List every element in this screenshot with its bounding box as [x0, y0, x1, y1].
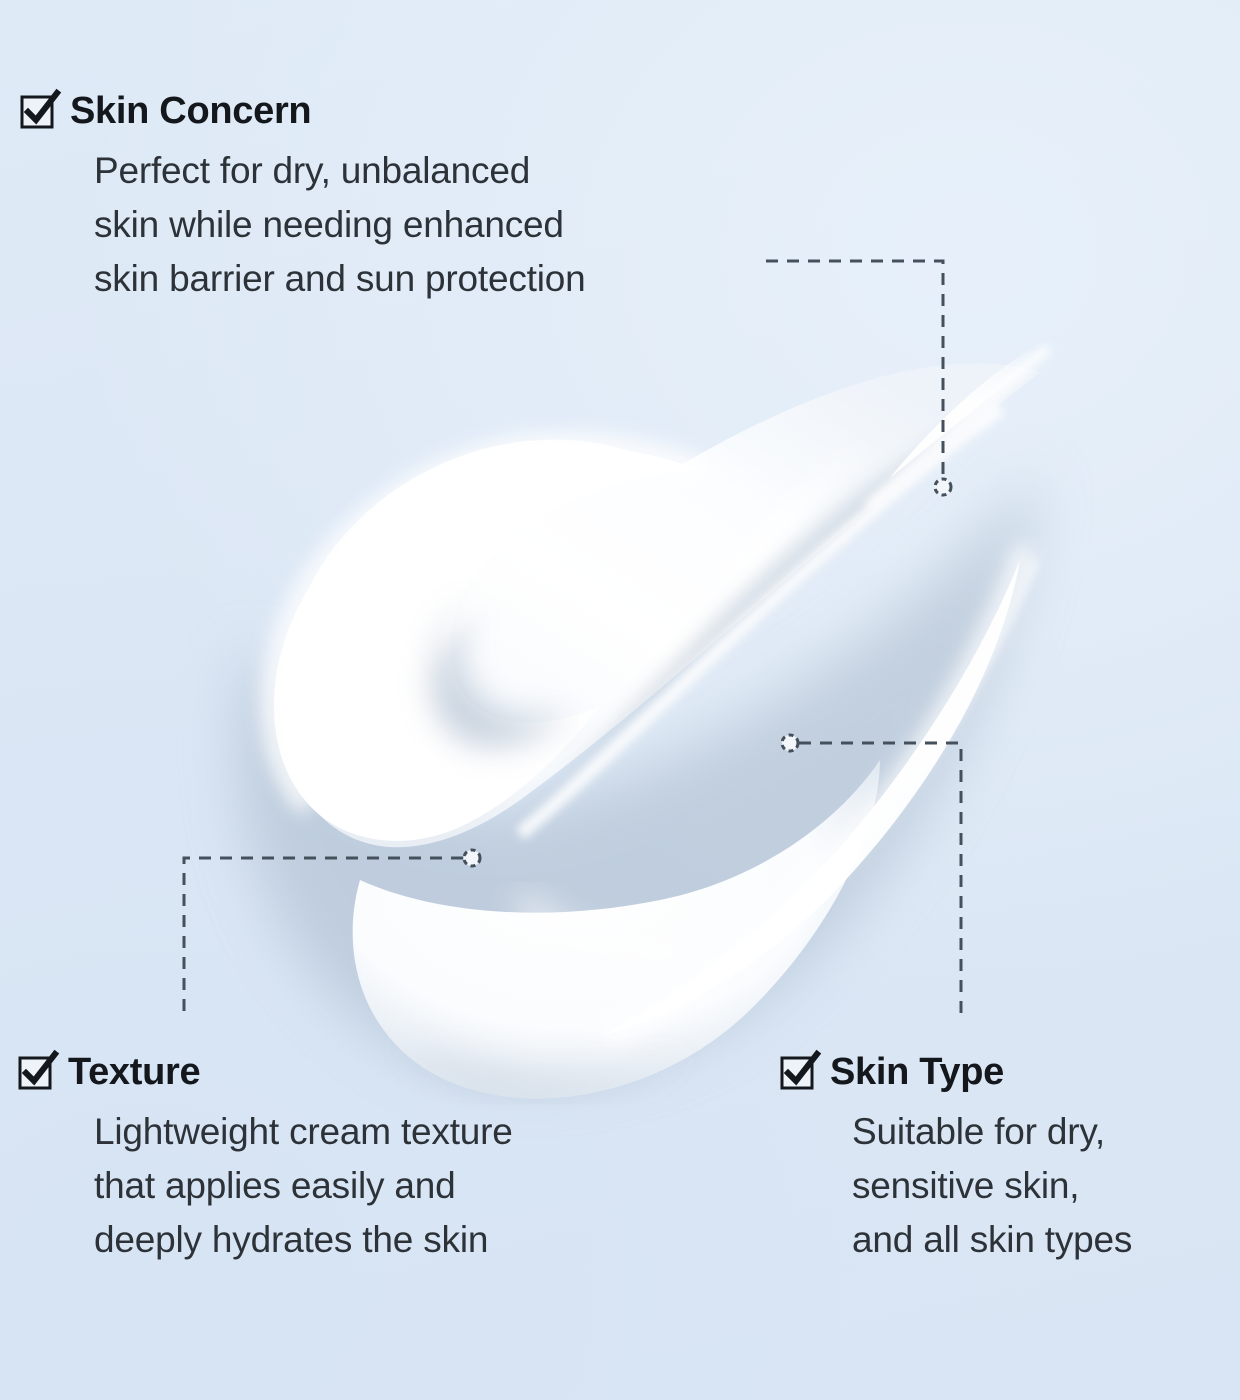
checkbox-checked-icon [18, 1054, 54, 1090]
feature-block-skin-type: Skin Type Suitable for dry, sensitive sk… [780, 1053, 1132, 1267]
feature-title-skin-type: Skin Type [830, 1053, 1004, 1091]
feature-block-skin-concern: Skin Concern Perfect for dry, unbalanced… [20, 92, 586, 306]
feature-body-skin-type: Suitable for dry, sensitive skin, and al… [852, 1105, 1132, 1267]
product-feature-infographic: Skin Concern Perfect for dry, unbalanced… [0, 0, 1240, 1400]
checkbox-checked-icon [780, 1054, 816, 1090]
feature-body-texture: Lightweight cream texture that applies e… [94, 1105, 513, 1267]
feature-title-texture: Texture [68, 1053, 200, 1091]
feature-heading-texture: Texture [18, 1053, 513, 1091]
feature-title-skin-concern: Skin Concern [70, 92, 311, 130]
checkbox-checked-icon [20, 93, 56, 129]
feature-block-texture: Texture Lightweight cream texture that a… [18, 1053, 513, 1267]
feature-heading-skin-type: Skin Type [780, 1053, 1132, 1091]
feature-body-skin-concern: Perfect for dry, unbalanced skin while n… [94, 144, 586, 306]
feature-heading-skin-concern: Skin Concern [20, 92, 586, 130]
